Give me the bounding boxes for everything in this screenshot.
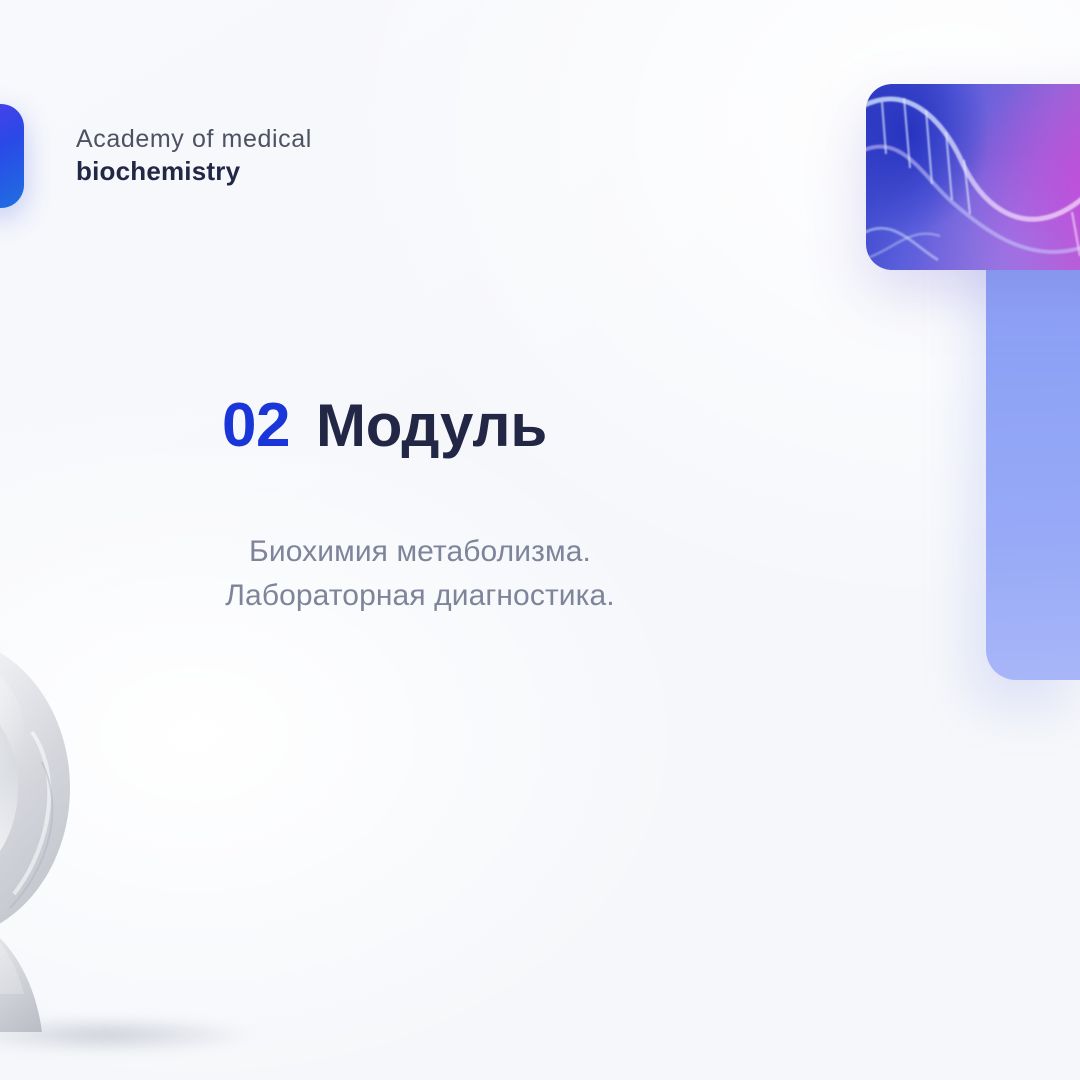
subtitle-line-2: Лабораторная диагностика. <box>0 574 840 618</box>
logo-text: Academy of medical biochemistry <box>76 124 312 188</box>
logo-line-academy: Academy of medical <box>76 124 312 156</box>
white-torus-sculpture-icon <box>0 612 132 1052</box>
page-title: 02 Модуль <box>222 390 547 461</box>
subtitle: Биохимия метаболизма. Лабораторная диагн… <box>0 530 840 617</box>
subtitle-line-1: Биохимия метаболизма. <box>0 530 840 574</box>
module-number: 02 <box>222 390 290 461</box>
slide-canvas: Academy of medical biochemistry <box>0 0 1080 1080</box>
logo[interactable]: Academy of medical biochemistry <box>0 104 312 208</box>
dna-double-helix-image <box>866 84 1080 270</box>
logo-mark-icon <box>0 104 24 208</box>
module-word: Модуль <box>316 391 547 460</box>
dna-helix-strands-icon <box>866 84 1080 270</box>
logo-line-biochemistry: biochemistry <box>76 155 312 188</box>
